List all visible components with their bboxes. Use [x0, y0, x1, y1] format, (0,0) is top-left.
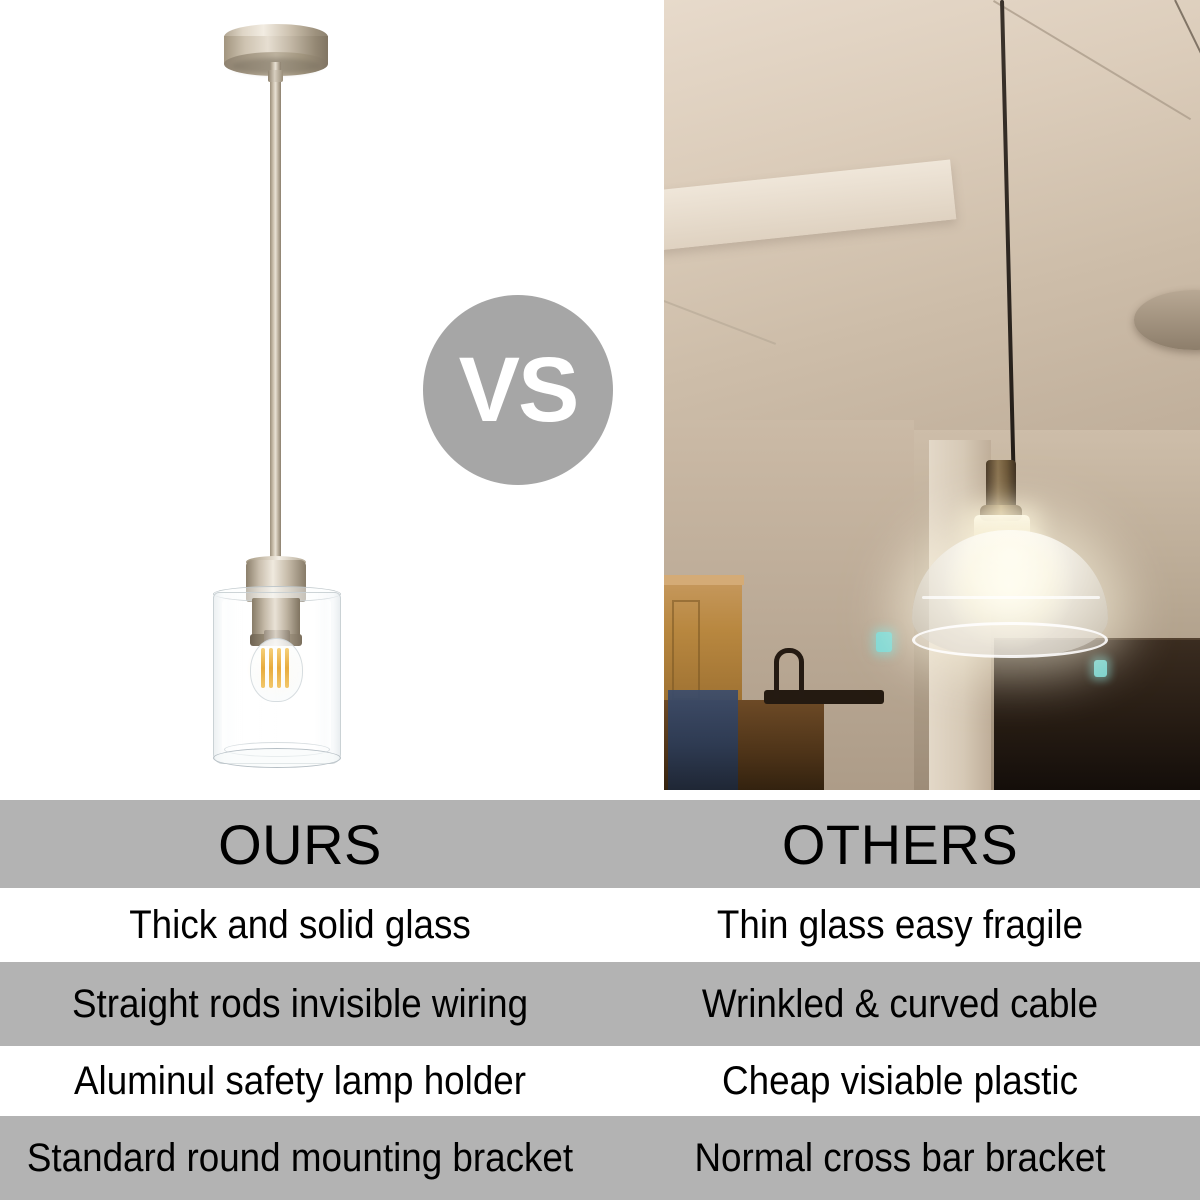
filament	[285, 648, 289, 688]
cell-others-2: Wrinkled & curved cable	[624, 962, 1176, 1046]
cell-others-1: Thin glass easy fragile	[624, 888, 1176, 962]
teal-light-dot-secondary	[1094, 660, 1107, 677]
filament	[277, 648, 281, 688]
cabinet-panel	[672, 600, 700, 700]
column-header-others: OTHERS	[600, 800, 1200, 888]
cell-ours-1: Thick and solid glass	[24, 888, 576, 962]
comparison-infographic: VS	[0, 0, 1200, 1200]
counter-items	[668, 690, 738, 790]
others-product-photo	[664, 0, 1200, 790]
cell-ours-4: Standard round mounting bracket	[24, 1116, 576, 1200]
glass-highlight-right	[325, 600, 331, 750]
vs-badge: VS	[423, 295, 613, 485]
table-row: Standard round mounting bracket Normal c…	[0, 1116, 1200, 1200]
table-header-row: OURS OTHERS	[0, 800, 1200, 888]
cell-ours-3: Aluminul safety lamp holder	[24, 1046, 576, 1116]
rod-collar	[268, 70, 283, 82]
glass-highlight-left	[222, 600, 229, 750]
dome-highlight	[922, 596, 1100, 599]
filament	[261, 648, 265, 688]
cell-others-3: Cheap visiable plastic	[624, 1046, 1176, 1116]
vs-label: VS	[459, 344, 578, 436]
filament	[269, 648, 273, 688]
comparison-table: OURS OTHERS Thick and solid glass Thin g…	[0, 800, 1200, 1200]
cell-ours-2: Straight rods invisible wiring	[24, 962, 576, 1046]
cabinet-trim	[664, 575, 744, 585]
column-header-ours: OURS	[0, 800, 600, 888]
straight-rod	[270, 62, 281, 567]
teal-light-dot	[876, 632, 892, 652]
hero-section: VS	[0, 0, 1200, 790]
table-row: Straight rods invisible wiring Wrinkled …	[0, 962, 1200, 1046]
dome-rim	[912, 622, 1108, 658]
faucet-icon	[774, 648, 804, 698]
table-row: Thick and solid glass Thin glass easy fr…	[0, 888, 1200, 962]
glass-bottom-rim	[213, 748, 341, 768]
table-row: Aluminul safety lamp holder Cheap visiab…	[0, 1046, 1200, 1116]
cell-others-4: Normal cross bar bracket	[624, 1116, 1176, 1200]
